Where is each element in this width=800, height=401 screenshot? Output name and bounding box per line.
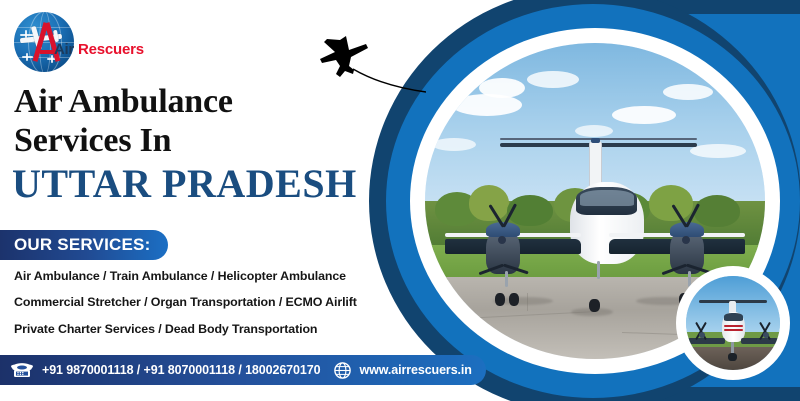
services-list: Air Ambulance / Train Ambulance / Helico… bbox=[14, 270, 384, 349]
phone-numbers[interactable]: +91 9870001118 / +91 8070001118 / 180026… bbox=[42, 363, 320, 377]
our-services-label: OUR SERVICES: bbox=[14, 235, 150, 255]
service-line: Commercial Stretcher / Organ Transportat… bbox=[14, 296, 384, 308]
logo-text-rescuers: Rescuers bbox=[78, 41, 144, 58]
headline-line-1: Air Ambulance bbox=[14, 82, 354, 121]
brand-logo[interactable]: Air Rescuers bbox=[14, 12, 154, 74]
website-url[interactable]: www.airrescuers.in bbox=[359, 363, 471, 377]
page-title: Air Ambulance Services In bbox=[14, 82, 354, 161]
inset-aircraft-photo bbox=[686, 276, 780, 370]
globe-icon bbox=[334, 362, 351, 379]
service-line: Air Ambulance / Train Ambulance / Helico… bbox=[14, 270, 384, 282]
service-line: Private Charter Services / Dead Body Tra… bbox=[14, 323, 384, 335]
our-services-badge: OUR SERVICES: bbox=[0, 230, 168, 260]
logo-text-air: Air bbox=[54, 41, 74, 58]
headline-line-2: Services In bbox=[14, 121, 354, 160]
telephone-icon bbox=[10, 362, 34, 379]
state-name-heading: UTTAR PRADESH bbox=[12, 164, 357, 204]
contact-bar[interactable]: +91 9870001118 / +91 8070001118 / 180026… bbox=[0, 355, 486, 385]
air-ambulance-promo-banner: Air Rescuers Air Ambulance Services In U… bbox=[0, 0, 800, 401]
